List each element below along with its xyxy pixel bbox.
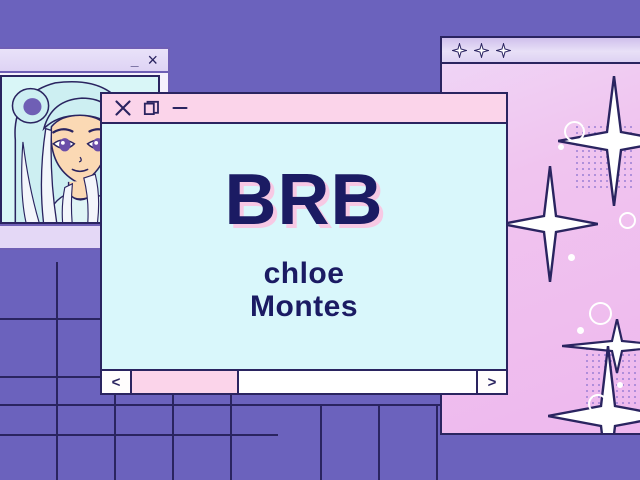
sparkle-icon [474, 43, 489, 58]
halftone-pattern [574, 124, 636, 192]
artist-name: chloe Montes [250, 258, 358, 323]
minimize-icon[interactable] [171, 99, 189, 117]
sparkle-icon [558, 76, 640, 206]
sparkle-icon [452, 43, 467, 58]
anime-window-titlebar[interactable]: _ × [0, 49, 168, 73]
sparkle-icon [562, 319, 640, 373]
scrollbar-thumb[interactable] [132, 371, 239, 393]
dot-decor [617, 382, 623, 388]
scrollbar-track[interactable] [132, 371, 476, 393]
brb-window-titlebar[interactable] [102, 94, 506, 124]
circle-decor [619, 212, 636, 229]
artist-first-name: chloe [250, 258, 358, 290]
close-icon[interactable]: × [147, 53, 158, 67]
circle-decor [588, 394, 608, 414]
circle-decor [589, 302, 612, 325]
dot-decor [577, 327, 584, 334]
sparkle-window-titlebar[interactable] [442, 38, 640, 64]
screen: _ × [0, 0, 640, 480]
dot-decor [558, 144, 564, 150]
minimize-icon[interactable]: _ [131, 56, 139, 64]
scroll-right-button[interactable]: > [476, 371, 506, 393]
background-grid-divider [0, 404, 478, 406]
brb-window[interactable]: BRB chloe Montes < > [100, 92, 508, 395]
circle-decor [564, 121, 585, 142]
dot-decor [568, 254, 575, 261]
brb-window-body: BRB chloe Montes [102, 124, 506, 369]
sparkle-icon [496, 43, 511, 58]
close-icon[interactable] [114, 99, 132, 117]
sparkle-icon [502, 166, 598, 282]
sparkle-icon [548, 346, 640, 435]
scroll-left-button[interactable]: < [102, 371, 132, 393]
halftone-pattern [584, 346, 636, 406]
artist-last-name: Montes [250, 291, 358, 323]
headline-brb: BRB [225, 164, 384, 236]
horizontal-scrollbar[interactable]: < > [102, 369, 506, 393]
restore-window-icon[interactable] [143, 100, 160, 117]
